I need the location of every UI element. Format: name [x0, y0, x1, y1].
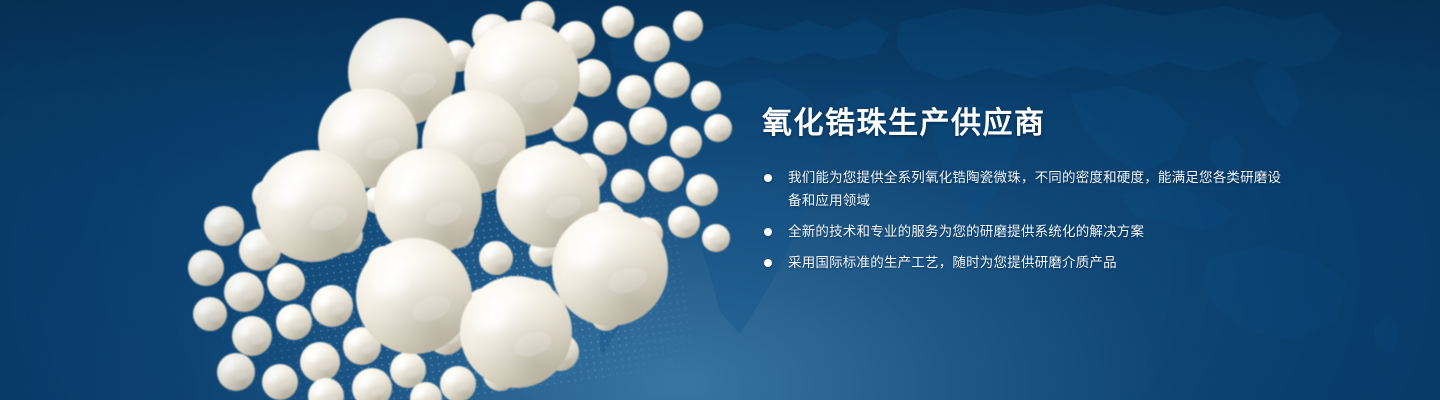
- bullet-text-2: 全新的技术和专业的服务为您的研磨提供系统化的解决方案: [788, 224, 1144, 239]
- banner-headline: 氧化锆珠生产供应商: [762, 104, 1282, 144]
- bullet-item-2: 全新的技术和专业的服务为您的研磨提供系统化的解决方案: [762, 220, 1282, 243]
- bullet-dot-icon: [764, 174, 772, 182]
- bullet-text-3: 采用国际标准的生产工艺，随时为您提供研磨介质产品: [788, 255, 1117, 270]
- bullet-item-1: 我们能为您提供全系列氧化锆陶瓷微珠，不同的密度和硬度，能满足您各类研磨设备和应用…: [762, 166, 1282, 212]
- bullet-dot-icon: [764, 259, 772, 267]
- banner-copy: 氧化锆珠生产供应商 我们能为您提供全系列氧化锆陶瓷微珠，不同的密度和硬度，能满足…: [762, 104, 1282, 274]
- bullet-text-1: 我们能为您提供全系列氧化锆陶瓷微珠，不同的密度和硬度，能满足您各类研磨设备和应用…: [788, 170, 1281, 208]
- bullet-dot-icon: [764, 228, 772, 236]
- promo-banner: 氧化锆珠生产供应商 我们能为您提供全系列氧化锆陶瓷微珠，不同的密度和硬度，能满足…: [0, 0, 1440, 400]
- banner-bullet-list: 我们能为您提供全系列氧化锆陶瓷微珠，不同的密度和硬度，能满足您各类研磨设备和应用…: [762, 166, 1282, 274]
- bullet-item-3: 采用国际标准的生产工艺，随时为您提供研磨介质产品: [762, 251, 1282, 274]
